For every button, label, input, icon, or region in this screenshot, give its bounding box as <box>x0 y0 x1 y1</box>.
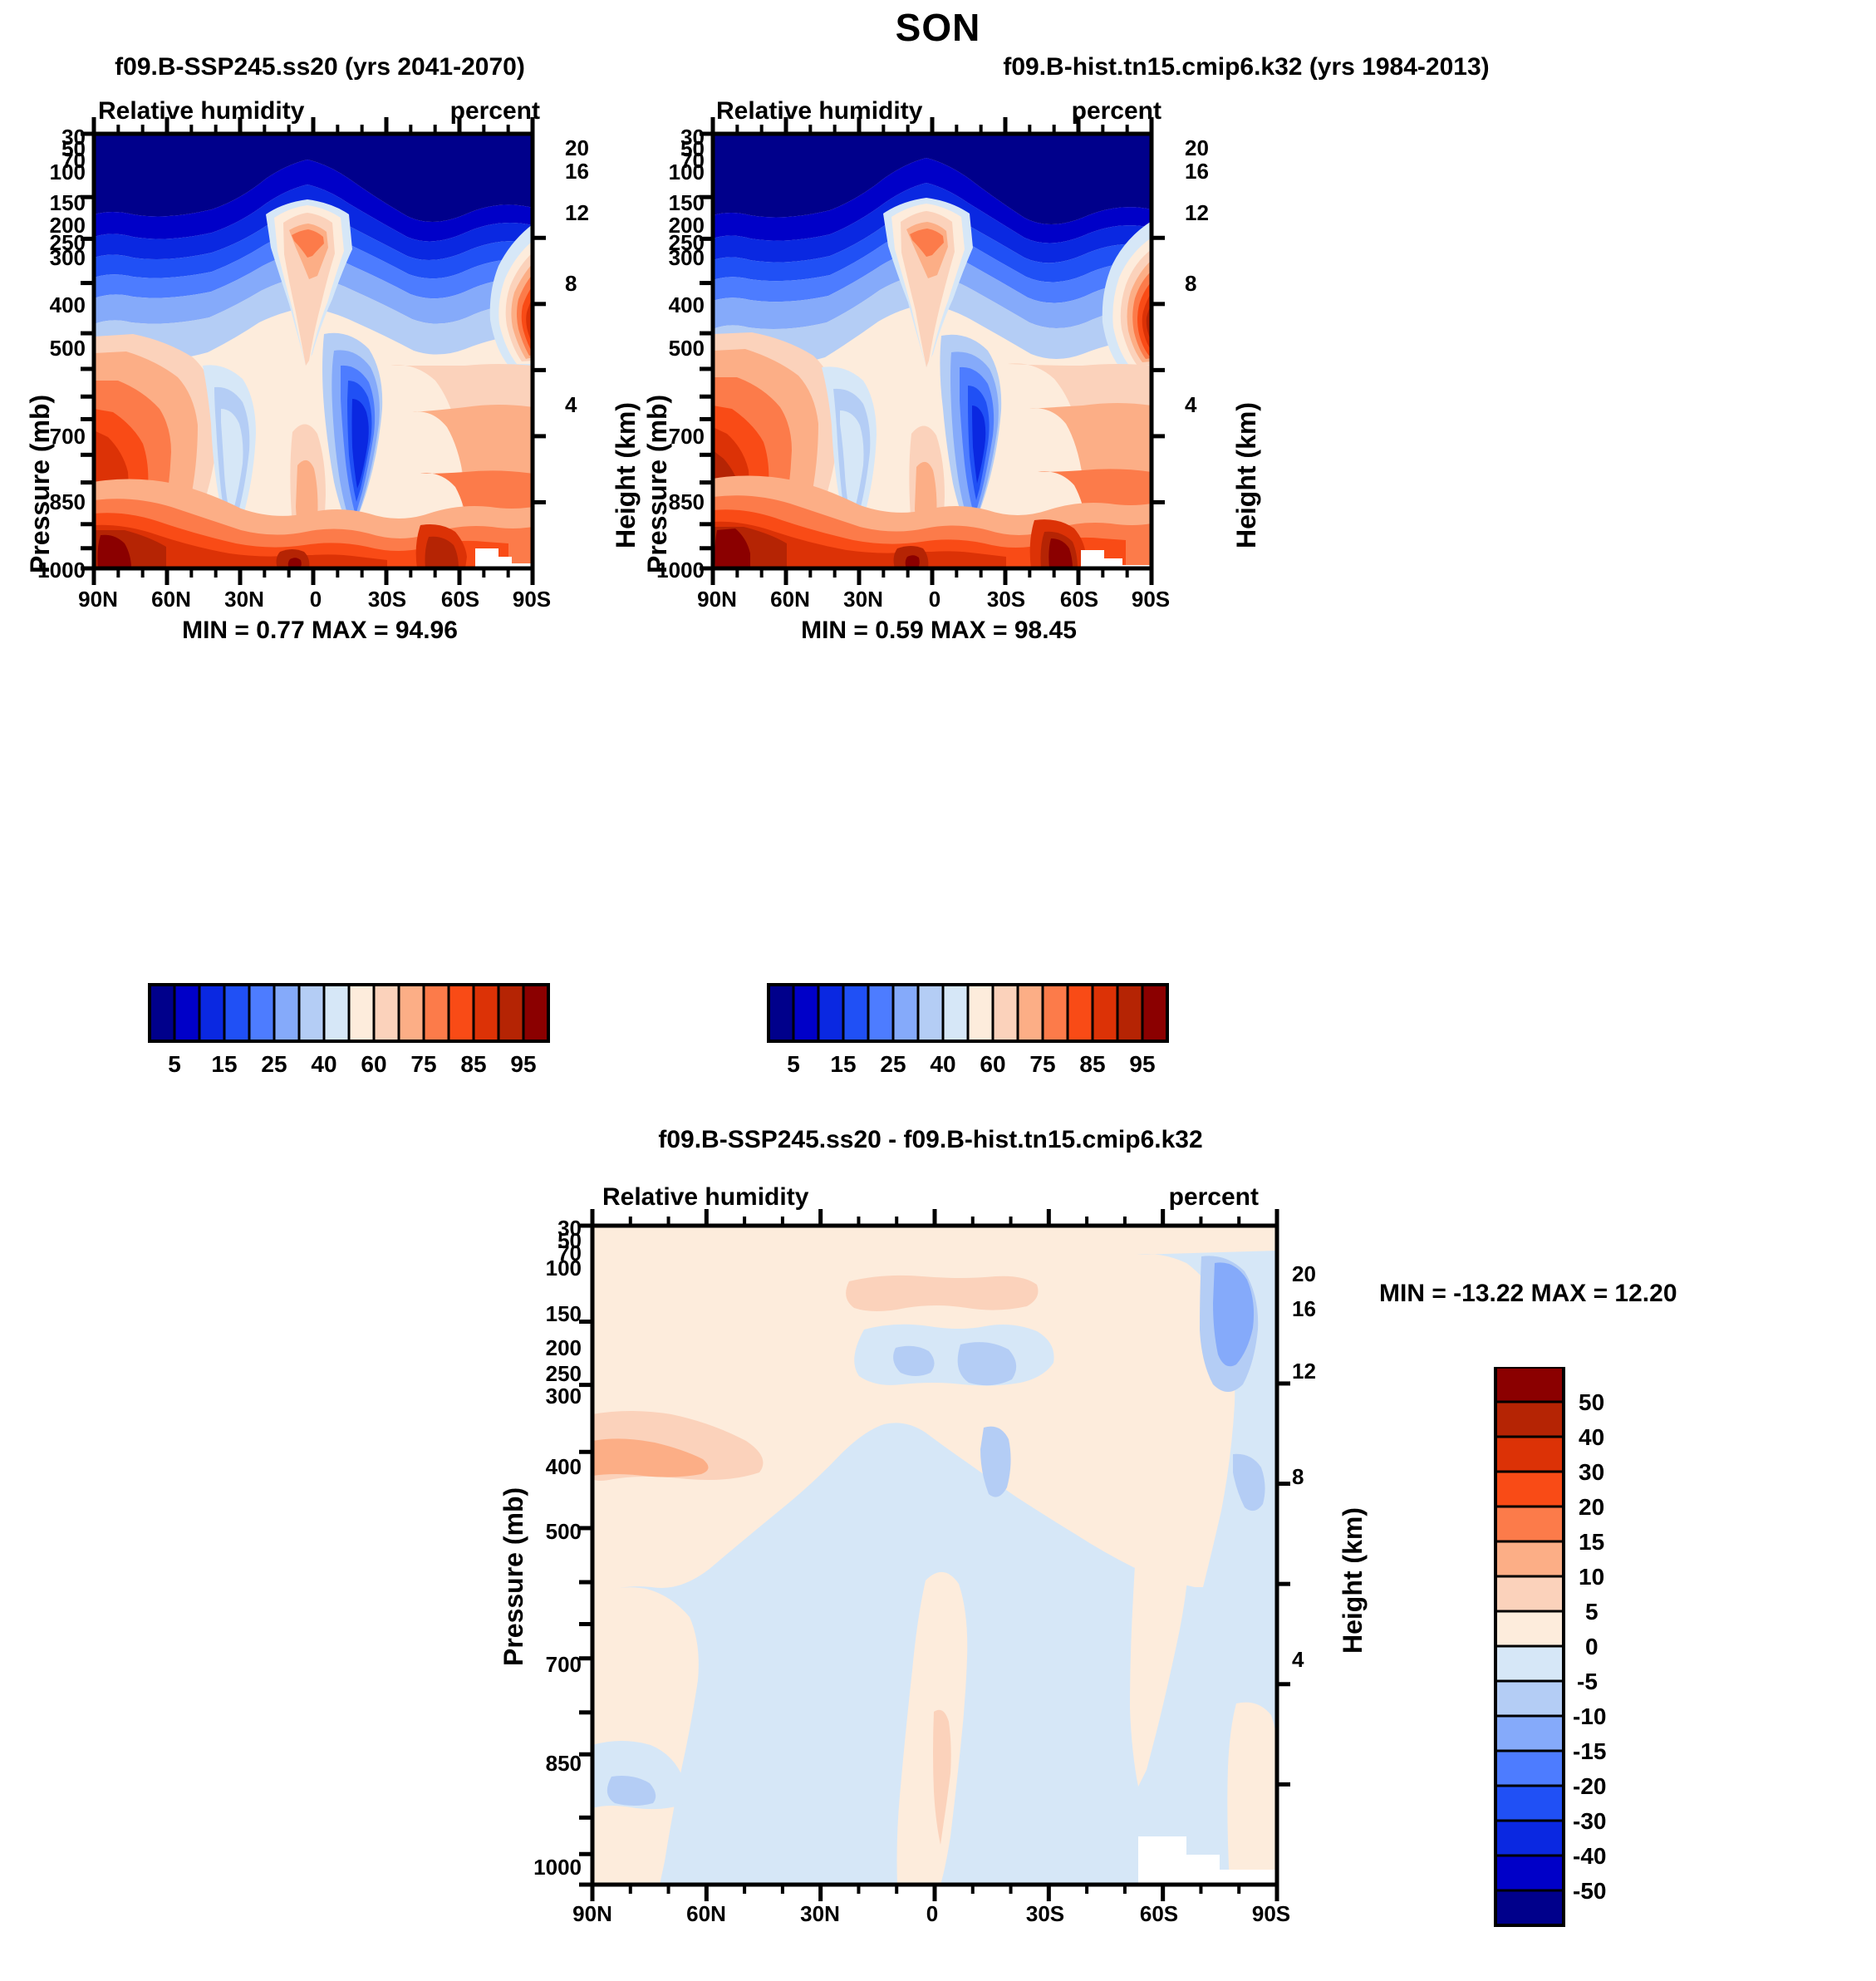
colorbar-swatch <box>943 985 968 1041</box>
panel-title-hist: f09.B-hist.tn15.cmip6.k32 (yrs 1984-2013… <box>1003 53 1489 81</box>
colorbar-swatch <box>324 985 349 1041</box>
colorbar-swatch <box>1117 985 1142 1041</box>
colorbar-swatch <box>1495 1856 1564 1890</box>
colorbar-svg-left <box>0 976 631 1097</box>
colorbar-diff[interactable] <box>1487 1367 1587 1949</box>
colorbar-svg-diff <box>1487 1367 1587 1949</box>
colorbar-swatch <box>1495 1646 1564 1681</box>
colorbar-swatch <box>1093 985 1117 1041</box>
colorbar-swatch <box>1495 1541 1564 1576</box>
figure-root: SON f09.B-SSP245.ss20 (yrs 2041-2070) Re… <box>0 0 1876 1981</box>
colorbar-swatch <box>1495 1751 1564 1786</box>
colorbar-swatch <box>474 985 498 1041</box>
colorbar-swatch <box>1495 1507 1564 1541</box>
colorbar-swatch <box>1068 985 1093 1041</box>
colorbar-swatch <box>150 985 174 1041</box>
colorbar-swatch <box>274 985 299 1041</box>
colorbar-swatch <box>1142 985 1167 1041</box>
colorbar-swatch <box>918 985 943 1041</box>
panel-title-ssp245: f09.B-SSP245.ss20 (yrs 2041-2070) <box>115 53 525 81</box>
colorbar-swatch <box>1495 1821 1564 1856</box>
colorbar-swatch <box>1495 1681 1564 1716</box>
contour-svg-diff <box>505 1205 1361 1936</box>
colorbar-swatch <box>968 985 993 1041</box>
colorbar-swatch <box>1043 985 1068 1041</box>
panel-title-diff: f09.B-SSP245.ss20 - f09.B-hist.tn15.cmip… <box>658 1126 1202 1154</box>
colorbar-swatch <box>199 985 224 1041</box>
colorbar-swatches-diff <box>1495 1367 1564 1925</box>
colorbar-svg-right <box>619 976 1250 1097</box>
colorbar-swatch <box>1495 1437 1564 1472</box>
minmax-hist: MIN = 0.59 MAX = 98.45 <box>801 617 1077 645</box>
colorbar-swatch <box>1495 1890 1564 1925</box>
contour-fills-hist <box>713 134 1152 568</box>
colorbar-swatch <box>843 985 868 1041</box>
colorbar-swatch <box>1018 985 1043 1041</box>
minmax-diff: MIN = -13.22 MAX = 12.20 <box>1379 1280 1677 1308</box>
colorbar-swatch <box>249 985 274 1041</box>
colorbar-swatch <box>893 985 918 1041</box>
colorbar-swatch <box>399 985 424 1041</box>
colorbar-swatch <box>349 985 374 1041</box>
colorbar-swatch <box>1495 1402 1564 1437</box>
colorbar-rh-left[interactable] <box>0 976 631 1097</box>
plot-area-hist <box>619 116 1250 598</box>
colorbar-swatch <box>769 985 793 1041</box>
contour-svg-ssp245 <box>0 116 631 598</box>
colorbar-swatch <box>1495 1786 1564 1821</box>
contour-fills-diff <box>592 1226 1278 1885</box>
colorbar-swatch <box>424 985 449 1041</box>
colorbar-swatch <box>1495 1576 1564 1611</box>
plot-area-ssp245 <box>0 116 631 598</box>
contour-fills-ssp245 <box>94 134 533 568</box>
contour-svg-hist <box>619 116 1250 598</box>
colorbar-swatch <box>1495 1716 1564 1751</box>
colorbar-swatch <box>993 985 1018 1041</box>
colorbar-swatch <box>449 985 474 1041</box>
colorbar-swatch <box>498 985 523 1041</box>
figure-suptitle: SON <box>896 5 981 50</box>
colorbar-swatch <box>174 985 199 1041</box>
colorbar-swatches-right <box>769 985 1167 1041</box>
colorbar-swatch <box>818 985 843 1041</box>
colorbar-swatch <box>523 985 548 1041</box>
colorbar-rh-right[interactable] <box>619 976 1250 1097</box>
minmax-ssp245: MIN = 0.77 MAX = 94.96 <box>182 617 458 645</box>
colorbar-swatch <box>793 985 818 1041</box>
colorbar-swatch <box>1495 1611 1564 1646</box>
colorbar-swatch <box>224 985 249 1041</box>
colorbar-swatch <box>299 985 324 1041</box>
colorbar-swatch <box>1495 1472 1564 1507</box>
plot-area-diff <box>505 1205 1361 1936</box>
colorbar-swatches-left <box>150 985 548 1041</box>
colorbar-swatch <box>868 985 893 1041</box>
colorbar-swatch <box>374 985 399 1041</box>
colorbar-swatch <box>1495 1367 1564 1402</box>
